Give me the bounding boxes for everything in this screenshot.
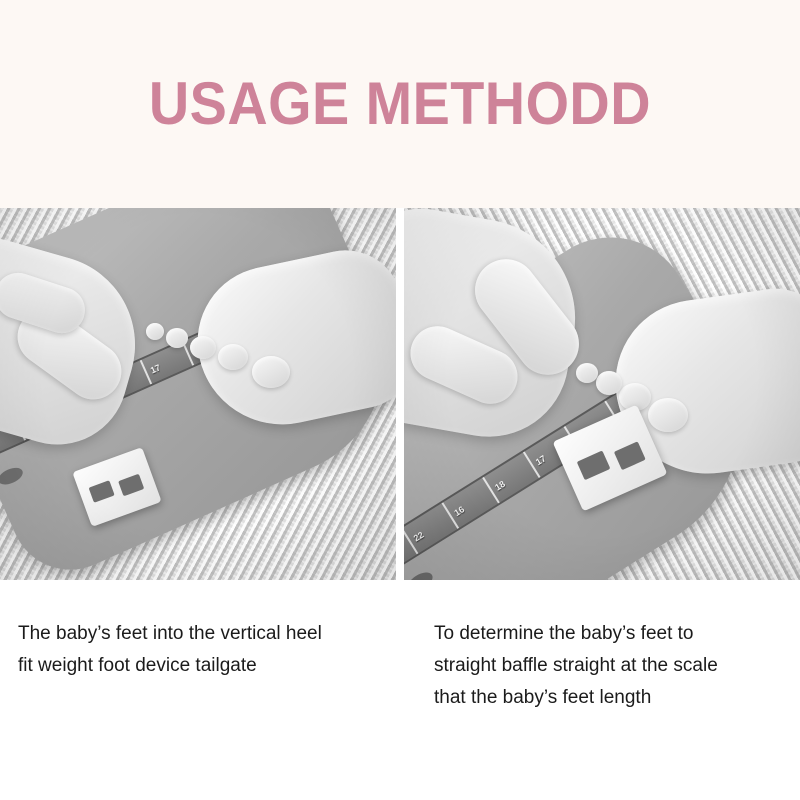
step-1-photo: 20 19 18 17 16 xyxy=(0,208,396,580)
step-1-caption: The baby’s feet into the vertical heel f… xyxy=(0,580,400,800)
step-2-caption: To determine the baby’s feet to straight… xyxy=(400,580,800,800)
photo-vignette xyxy=(404,208,800,580)
header-banner: USAGE METHODD xyxy=(0,0,800,208)
step-2-photo: 22 16 18 17 xyxy=(404,208,800,580)
photo-vignette xyxy=(0,208,396,580)
photo-strip: 20 19 18 17 16 xyxy=(0,208,800,580)
caption-row: The baby’s feet into the vertical heel f… xyxy=(0,580,800,800)
usage-method-infographic: USAGE METHODD 20 19 18 xyxy=(0,0,800,800)
page-title: USAGE METHODD xyxy=(149,74,651,134)
